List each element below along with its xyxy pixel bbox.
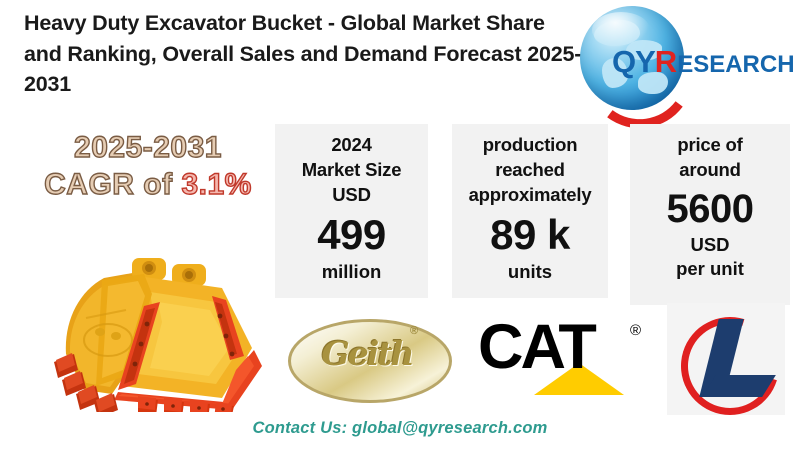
stat-card-value: 5600	[630, 187, 790, 232]
logo-geith: Geith ®	[278, 307, 458, 407]
registered-trademark-icon: ®	[410, 325, 418, 337]
cagr-value-line: CAGR of 3.1%	[28, 167, 268, 204]
stat-card-unit: units	[452, 260, 608, 284]
stat-card-line-1: price of	[630, 133, 790, 158]
stat-card-line-3: approximately	[452, 183, 608, 208]
letter-l-icon	[693, 319, 769, 399]
stat-card-line-2: reached	[452, 158, 608, 183]
cagr-period: 2025-2031	[28, 130, 268, 167]
cagr-value: 3.1%	[181, 168, 251, 201]
qyresearch-logo: QYRESEARCH	[568, 2, 800, 114]
infographic-root: Heavy Duty Excavator Bucket - Global Mar…	[0, 0, 800, 449]
stat-card-unit-2: per unit	[630, 257, 790, 281]
geith-wordmark: Geith	[278, 334, 456, 373]
stat-card-price: price of around 5600 USD per unit	[630, 124, 790, 305]
stat-card-market-size: 2024 Market Size USD 499 million	[275, 124, 428, 298]
stat-card-line-1: 2024	[275, 133, 428, 158]
brand-esearch: ESEARCH	[677, 51, 794, 78]
registered-trademark-icon: ®	[630, 322, 641, 339]
cagr-block: 2025-2031 CAGR of 3.1%	[28, 130, 268, 203]
logo-l-brand	[667, 303, 785, 415]
stat-card-line-2: around	[630, 158, 790, 183]
stat-card-line-3: USD	[275, 183, 428, 208]
stat-card-line-2: Market Size	[275, 158, 428, 183]
stat-card-value: 499	[275, 211, 428, 258]
brand-r: R	[655, 44, 677, 79]
logo-cat: CAT ®	[478, 316, 656, 402]
stat-card-production: production reached approximately 89 k un…	[452, 124, 608, 298]
brand-wordmark: QYRESEARCH	[612, 46, 795, 77]
contact-line: Contact Us: global@qyresearch.com	[0, 419, 800, 438]
stat-card-unit: USD	[630, 233, 790, 257]
page-title: Heavy Duty Excavator Bucket - Global Mar…	[24, 8, 584, 100]
brand-qy: QY	[612, 44, 655, 79]
stat-card-unit: million	[275, 260, 428, 284]
cagr-label: CAGR of	[44, 168, 181, 201]
stat-card-value: 89 k	[452, 211, 608, 258]
excavator-bucket-illustration	[26, 244, 272, 412]
stat-card-line-1: production	[452, 133, 608, 158]
cat-wordmark: CAT	[478, 316, 594, 379]
